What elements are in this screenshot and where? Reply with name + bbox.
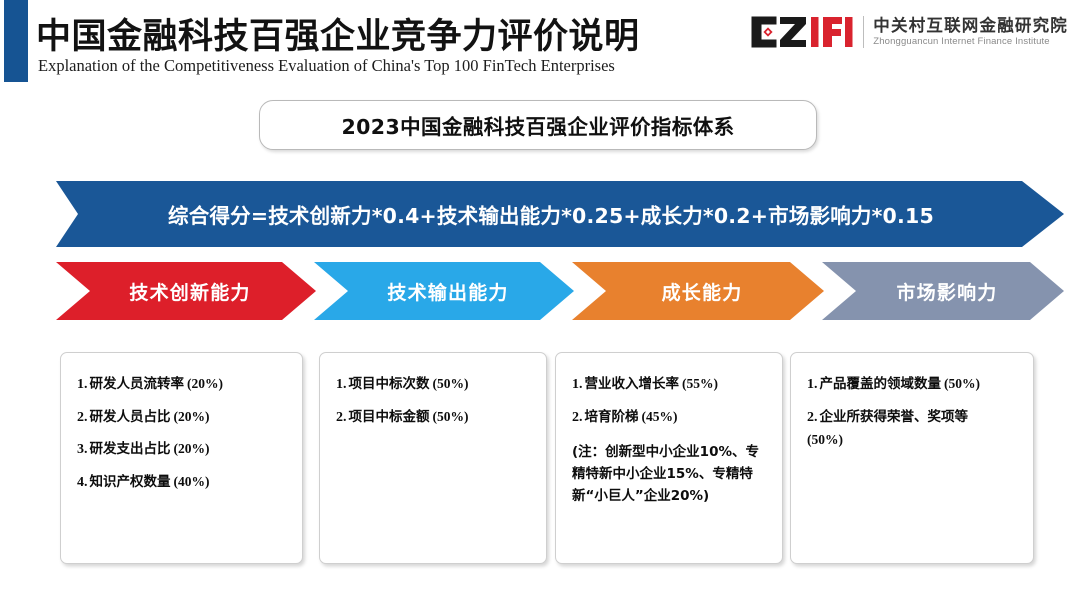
composite-score-formula-banner: 综合得分=技术创新力*0.4+技术输出能力*0.25+成长力*0.2+市场影响力… bbox=[56, 181, 1064, 247]
header-accent-bar bbox=[4, 0, 28, 82]
indicator-item: 2.培育阶梯(45%) bbox=[572, 410, 770, 426]
indicator-text: 企业所获得荣誉、奖项等 bbox=[820, 409, 969, 425]
indicator-item: 1.项目中标次数(50%) bbox=[336, 377, 534, 393]
indicator-number: 1. bbox=[572, 377, 583, 392]
indicator-text: 产品覆盖的领域数量 bbox=[820, 376, 942, 392]
chevron-growth: 成长能力 bbox=[572, 262, 824, 320]
page-subtitle-english: Explanation of the Competitiveness Evalu… bbox=[38, 56, 615, 76]
institute-logo: 中关村互联网金融研究院 Zhongguancun Internet Financ… bbox=[750, 11, 1068, 53]
indicator-item: 2.企业所获得荣誉、奖项等 bbox=[807, 410, 1021, 426]
indicator-number: 2. bbox=[336, 410, 347, 425]
institute-name-chinese: 中关村互联网金融研究院 bbox=[873, 17, 1068, 34]
indicator-note: (注：创新型中小企业10%、专精特新中小企业15%、专精特新“小巨人”企业20%… bbox=[572, 442, 770, 508]
indicator-text: 研发人员流转率 bbox=[90, 376, 185, 392]
indicator-card-technology-innovation: 1.研发人员流转率(20%) 2.研发人员占比(20%) 3.研发支出占比(20… bbox=[60, 352, 303, 564]
indicator-number: 1. bbox=[807, 377, 818, 392]
indicator-weight: (40%) bbox=[174, 474, 210, 489]
formula-banner-text: 综合得分=技术创新力*0.4+技术输出能力*0.25+成长力*0.2+市场影响力… bbox=[56, 181, 1064, 247]
chevron-label: 技术创新能力 bbox=[129, 278, 250, 305]
chevron-market-influence: 市场影响力 bbox=[822, 262, 1064, 320]
indicator-weight: (50%) bbox=[433, 409, 469, 424]
indicator-text: 培育阶梯 bbox=[585, 409, 639, 425]
indicator-weight: (50%) bbox=[944, 376, 980, 391]
indicator-number: 3. bbox=[77, 442, 88, 457]
indicator-weight: (20%) bbox=[187, 376, 223, 391]
indicator-item: 3.研发支出占比(20%) bbox=[77, 442, 290, 458]
czifi-logomark-icon bbox=[750, 11, 854, 53]
logo-divider bbox=[863, 16, 865, 48]
indicator-number: 2. bbox=[77, 410, 88, 425]
logo-text-block: 中关村互联网金融研究院 Zhongguancun Internet Financ… bbox=[873, 17, 1068, 47]
indicator-text: 营业收入增长率 bbox=[585, 376, 680, 392]
framework-title-box: 2023中国金融科技百强企业评价指标体系 bbox=[259, 100, 817, 150]
chevron-technology-innovation: 技术创新能力 bbox=[56, 262, 316, 320]
indicator-item: 1.营业收入增长率(55%) bbox=[572, 377, 770, 393]
indicator-card-technology-output: 1.项目中标次数(50%) 2.项目中标金额(50%) bbox=[319, 352, 547, 564]
indicator-weight: (45%) bbox=[642, 409, 678, 424]
indicator-item: 2.项目中标金额(50%) bbox=[336, 410, 534, 426]
framework-title-text: 2023中国金融科技百强企业评价指标体系 bbox=[341, 110, 734, 140]
indicator-number: 1. bbox=[336, 377, 347, 392]
indicator-item: 1.产品覆盖的领域数量(50%) bbox=[807, 377, 1021, 393]
page-title-chinese: 中国金融科技百强企业竞争力评价说明 bbox=[36, 8, 640, 59]
indicator-text: 项目中标金额 bbox=[349, 409, 430, 425]
indicator-item: 2.研发人员占比(20%) bbox=[77, 410, 290, 426]
indicator-card-growth: 1.营业收入增长率(55%) 2.培育阶梯(45%) (注：创新型中小企业10%… bbox=[555, 352, 783, 564]
chevron-technology-output: 技术输出能力 bbox=[314, 262, 574, 320]
indicator-text: 研发支出占比 bbox=[90, 441, 171, 457]
indicator-number: 2. bbox=[572, 410, 583, 425]
indicator-number: 4. bbox=[77, 475, 88, 490]
chevron-label: 市场影响力 bbox=[896, 278, 997, 305]
slide-canvas: 中国金融科技百强企业竞争力评价说明 Explanation of the Com… bbox=[0, 0, 1080, 608]
indicator-text: 知识产权数量 bbox=[90, 474, 171, 490]
indicator-item: 4.知识产权数量(40%) bbox=[77, 475, 290, 491]
indicator-text: 研发人员占比 bbox=[90, 409, 171, 425]
indicator-weight: (50%) bbox=[433, 376, 469, 391]
indicator-item: 1.研发人员流转率(20%) bbox=[77, 377, 290, 393]
dimension-chevron-row: 技术创新能力 技术输出能力 成长能力 市场影响力 bbox=[56, 262, 1064, 320]
indicator-weight: (50%) bbox=[807, 433, 1021, 447]
indicator-weight: (20%) bbox=[174, 409, 210, 424]
indicator-number: 1. bbox=[77, 377, 88, 392]
indicator-weight: (55%) bbox=[682, 376, 718, 391]
indicator-card-market-influence: 1.产品覆盖的领域数量(50%) 2.企业所获得荣誉、奖项等 (50%) bbox=[790, 352, 1034, 564]
indicator-weight-tail: (50%) bbox=[807, 433, 1021, 447]
chevron-label: 成长能力 bbox=[662, 278, 743, 305]
indicator-weight: (20%) bbox=[174, 441, 210, 456]
institute-name-english: Zhongguancun Internet Finance Institute bbox=[873, 37, 1068, 47]
indicator-text: 项目中标次数 bbox=[349, 376, 430, 392]
indicator-number: 2. bbox=[807, 410, 818, 425]
chevron-label: 技术输出能力 bbox=[387, 278, 508, 305]
indicator-card-row: 1.研发人员流转率(20%) 2.研发人员占比(20%) 3.研发支出占比(20… bbox=[60, 352, 1064, 564]
